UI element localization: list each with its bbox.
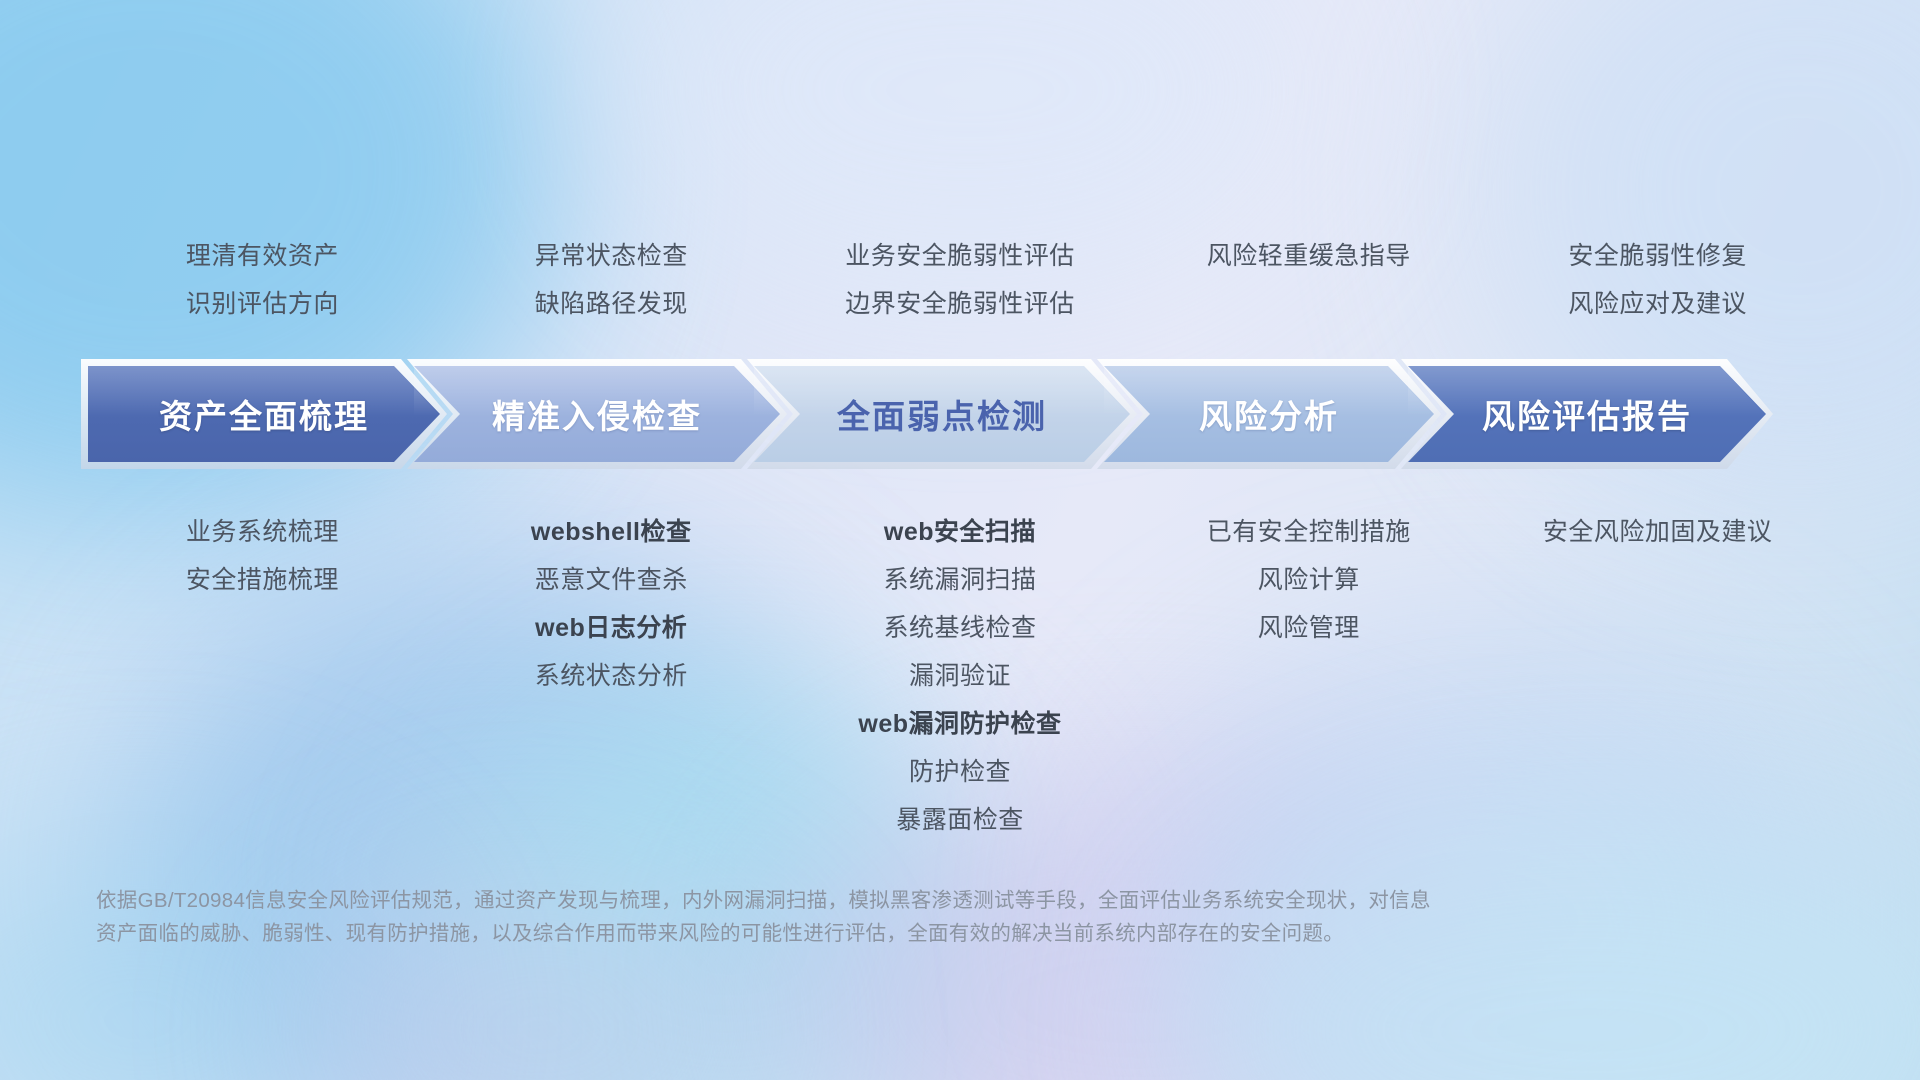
footer-line-1: 依据GB/T20984信息安全风险评估规范，通过资产发现与梳理，内外网漏洞扫描，… [96,884,1656,917]
bottom-items-column-1: 业务系统梳理 安全措施梳理 [88,508,437,844]
top-item: 风险应对及建议 [1568,280,1747,328]
bottom-item: 防护检查 [909,748,1011,796]
bottom-item: 漏洞验证 [909,652,1011,700]
top-item: 业务安全脆弱性评估 [845,232,1075,280]
footer-description: 依据GB/T20984信息安全风险评估规范，通过资产发现与梳理，内外网漏洞扫描，… [96,884,1656,950]
top-item: 边界安全脆弱性评估 [845,280,1075,328]
bottom-items-column-4: 已有安全控制措施 风险计算 风险管理 [1134,508,1483,844]
stage-chevron-asset-review[interactable]: 资产全面梳理 [88,366,440,462]
bottom-item: 安全措施梳理 [186,556,339,604]
bottom-item: web日志分析 [535,604,687,652]
stage-chevron-risk-report[interactable]: 风险评估报告 [1408,366,1766,462]
stage-label: 全面弱点检测 [837,390,1047,438]
bottom-items-row: 业务系统梳理 安全措施梳理 webshell检查 恶意文件查杀 web日志分析 … [88,508,1832,844]
bottom-item: web安全扫描 [884,508,1036,556]
stage-label: 风险分析 [1199,390,1339,438]
footer-line-2: 资产面临的威胁、脆弱性、现有防护措施，以及综合作用而带来风险的可能性进行评估，全… [96,917,1656,950]
stage-chevron-risk-analysis[interactable]: 风险分析 [1104,366,1434,462]
stage-label: 资产全面梳理 [159,390,369,438]
bottom-item: 业务系统梳理 [186,508,339,556]
top-item: 风险轻重缓急指导 [1207,232,1411,280]
bottom-item: web漏洞防护检查 [858,700,1061,748]
bottom-items-column-2: webshell检查 恶意文件查杀 web日志分析 系统状态分析 [437,508,786,844]
diagram-canvas: 理清有效资产 识别评估方向 异常状态检查 缺陷路径发现 业务安全脆弱性评估 边界… [0,0,1920,1080]
bottom-item: 风险管理 [1258,604,1360,652]
bottom-item: 风险计算 [1258,556,1360,604]
bottom-item: 暴露面检查 [896,796,1024,844]
bottom-item: 安全风险加固及建议 [1543,508,1773,556]
stage-chevron-intrusion-check[interactable]: 精准入侵检查 [414,366,780,462]
top-items-column-1: 理清有效资产 识别评估方向 [88,232,437,328]
process-chevron-band: 资产全面梳理 精准入侵检查 全面弱点检测 风险分析 [88,366,1844,462]
top-items-column-3: 业务安全脆弱性评估 边界安全脆弱性评估 [786,232,1135,328]
stage-chevron-weakness-detection[interactable]: 全面弱点检测 [754,366,1130,462]
bottom-items-column-5: 安全风险加固及建议 [1483,508,1832,844]
bottom-item: 系统基线检查 [883,604,1036,652]
top-items-row: 理清有效资产 识别评估方向 异常状态检查 缺陷路径发现 业务安全脆弱性评估 边界… [88,232,1832,328]
bottom-item: 恶意文件查杀 [535,556,688,604]
top-items-column-5: 安全脆弱性修复 风险应对及建议 [1483,232,1832,328]
stage-label: 风险评估报告 [1482,390,1692,438]
bottom-item: webshell检查 [531,508,692,556]
stage-label: 精准入侵检查 [492,390,702,438]
top-item: 识别评估方向 [186,280,339,328]
top-item: 理清有效资产 [186,232,339,280]
top-item: 异常状态检查 [535,232,688,280]
bottom-item: 系统漏洞扫描 [883,556,1036,604]
top-item: 缺陷路径发现 [535,280,688,328]
top-item: 安全脆弱性修复 [1568,232,1747,280]
top-items-column-2: 异常状态检查 缺陷路径发现 [437,232,786,328]
bottom-item: 系统状态分析 [535,652,688,700]
bottom-item: 已有安全控制措施 [1207,508,1411,556]
bottom-items-column-3: web安全扫描 系统漏洞扫描 系统基线检查 漏洞验证 web漏洞防护检查 防护检… [786,508,1135,844]
top-items-column-4: 风险轻重缓急指导 [1134,232,1483,328]
